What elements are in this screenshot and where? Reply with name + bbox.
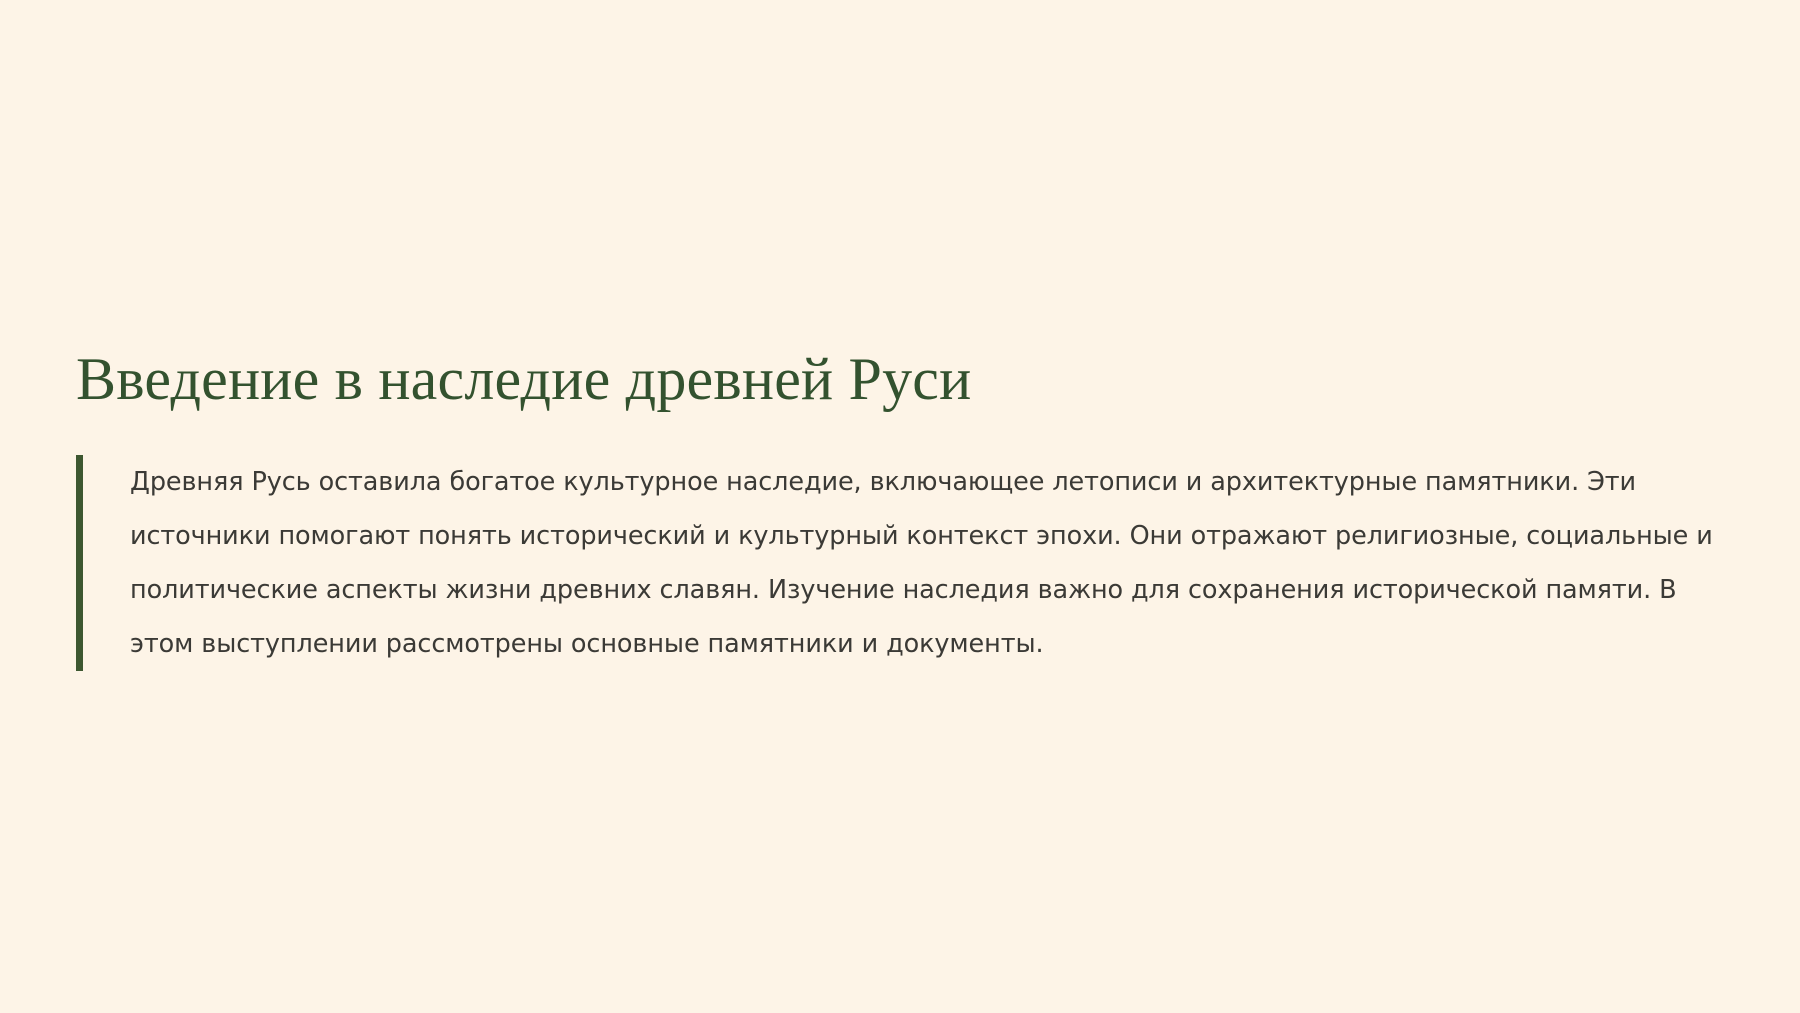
accent-bar [76, 455, 83, 671]
slide-content-block: Введение в наследие древней Руси Древняя… [76, 346, 1716, 671]
presentation-slide: Введение в наследие древней Руси Древняя… [0, 0, 1800, 1013]
body-paragraph-container: Древняя Русь оставила богатое культурное… [76, 455, 1716, 671]
page-title: Введение в наследие древней Руси [76, 346, 1716, 413]
body-paragraph: Древняя Русь оставила богатое культурное… [83, 455, 1716, 671]
